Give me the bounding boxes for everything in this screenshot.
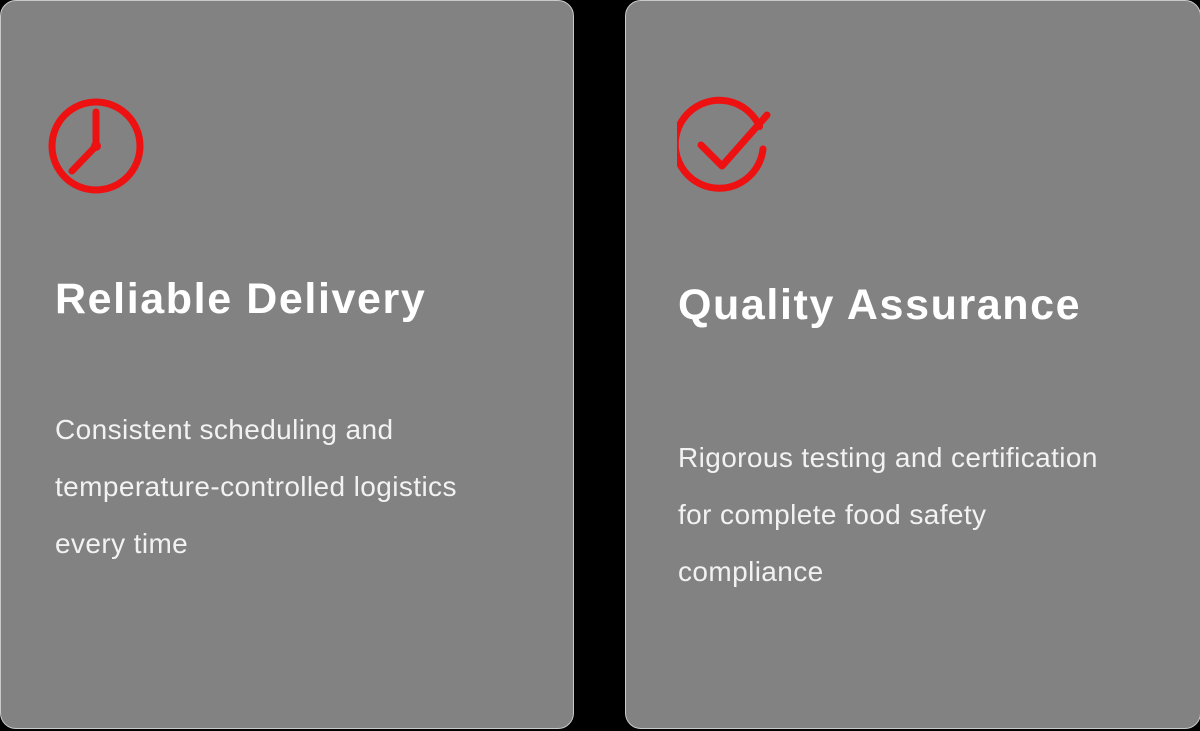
card-title: Reliable Delivery — [55, 276, 426, 323]
feature-card-quality-assurance[interactable]: Quality Assurance Rigorous testing and c… — [625, 0, 1200, 729]
feature-cards-carousel[interactable]: Reliable Delivery Consistent scheduling … — [0, 0, 1200, 731]
check-circle-icon — [677, 93, 777, 193]
card-content: Reliable Delivery Consistent scheduling … — [1, 1, 573, 728]
card-description: Consistent scheduling and temperature-co… — [55, 401, 485, 572]
feature-card-reliable-delivery[interactable]: Reliable Delivery Consistent scheduling … — [0, 0, 574, 729]
clock-icon — [46, 96, 146, 196]
card-description: Rigorous testing and certification for c… — [678, 429, 1118, 600]
card-title: Quality Assurance — [678, 282, 1081, 329]
card-content: Quality Assurance Rigorous testing and c… — [626, 1, 1200, 728]
